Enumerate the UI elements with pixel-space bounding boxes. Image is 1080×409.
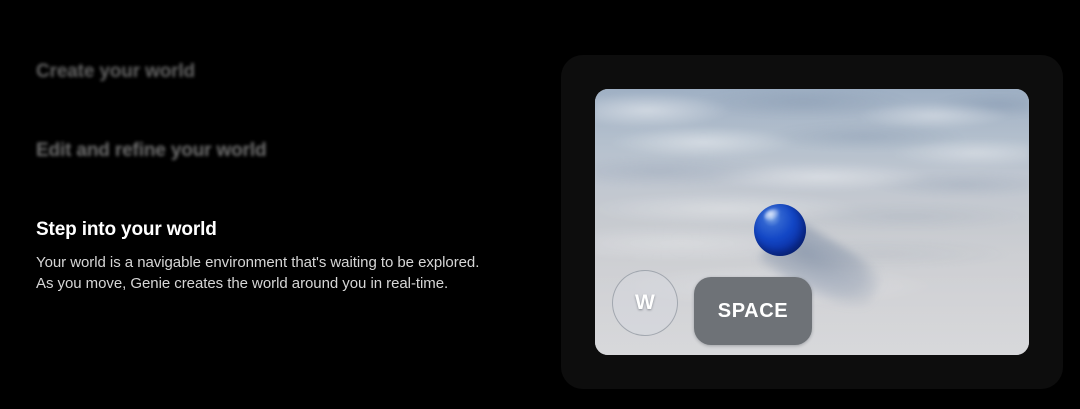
blue-sphere	[754, 204, 806, 256]
step-item-create-your-world[interactable]: Create your world	[36, 60, 516, 84]
step-description-line: Your world is a navigable environment th…	[36, 252, 516, 273]
key-w-button[interactable]: W	[612, 270, 678, 336]
step-description-line: As you move, Genie creates the world aro…	[36, 273, 516, 294]
demo-card: W SPACE	[561, 55, 1063, 389]
step-title: Create your world	[36, 60, 516, 84]
step-title: Step into your world	[36, 218, 516, 242]
step-title: Edit and refine your world	[36, 139, 516, 163]
page-root: Create your world Edit and refine your w…	[0, 0, 1080, 409]
game-viewport[interactable]: W SPACE	[595, 89, 1029, 355]
step-description: Your world is a navigable environment th…	[36, 252, 516, 294]
key-space-button[interactable]: SPACE	[694, 277, 812, 345]
steps-list: Create your world Edit and refine your w…	[36, 0, 536, 409]
step-item-step-into-your-world[interactable]: Step into your world Your world is a nav…	[36, 218, 516, 294]
sphere-highlight	[762, 206, 782, 223]
step-item-edit-and-refine-your-world[interactable]: Edit and refine your world	[36, 139, 516, 163]
